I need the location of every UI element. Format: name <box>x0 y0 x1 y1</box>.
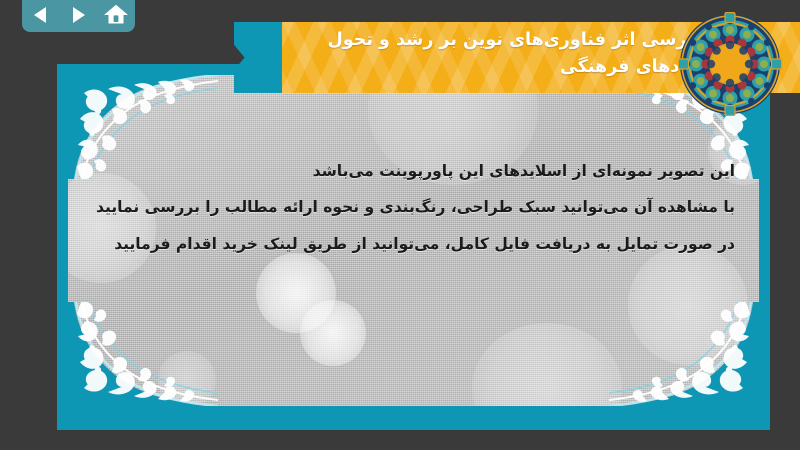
triangle-left-icon <box>30 4 52 26</box>
body-line: با مشاهده آن می‌توانید سبک طراحی، رنگ‌بن… <box>92 189 735 225</box>
home-button[interactable] <box>102 2 130 28</box>
navigation-bar <box>22 0 135 32</box>
arabesque-corner-ornament-icon <box>68 302 218 406</box>
content-panel: این تصویر نمونه‌ای از اسلایدهای این پاور… <box>68 75 759 406</box>
page-title: بررسی اثر فناوری‌های نوین بر رشد و تحول … <box>248 27 704 80</box>
triangle-right-icon <box>67 4 89 26</box>
next-button[interactable] <box>64 2 92 28</box>
persian-medallion-ornament-icon <box>678 12 782 116</box>
bokeh-highlight <box>628 245 748 365</box>
body-line: این تصویر نمونه‌ای از اسلایدهای این پاور… <box>92 153 735 189</box>
bokeh-highlight <box>300 300 366 366</box>
body-line: در صورت تمایل به دریافت فایل کامل، می‌تو… <box>92 226 735 262</box>
content-frame: این تصویر نمونه‌ای از اسلایدهای این پاور… <box>57 64 770 430</box>
bokeh-highlight <box>256 253 336 333</box>
arabesque-corner-ornament-icon <box>609 302 759 406</box>
body-text-block: این تصویر نمونه‌ای از اسلایدهای این پاور… <box>92 153 735 262</box>
previous-button[interactable] <box>27 2 55 28</box>
bokeh-highlight <box>158 351 216 406</box>
home-icon <box>104 4 128 26</box>
slide-canvas: بررسی اثر فناوری‌های نوین بر رشد و تحول … <box>0 0 800 450</box>
bokeh-highlight <box>472 323 622 406</box>
